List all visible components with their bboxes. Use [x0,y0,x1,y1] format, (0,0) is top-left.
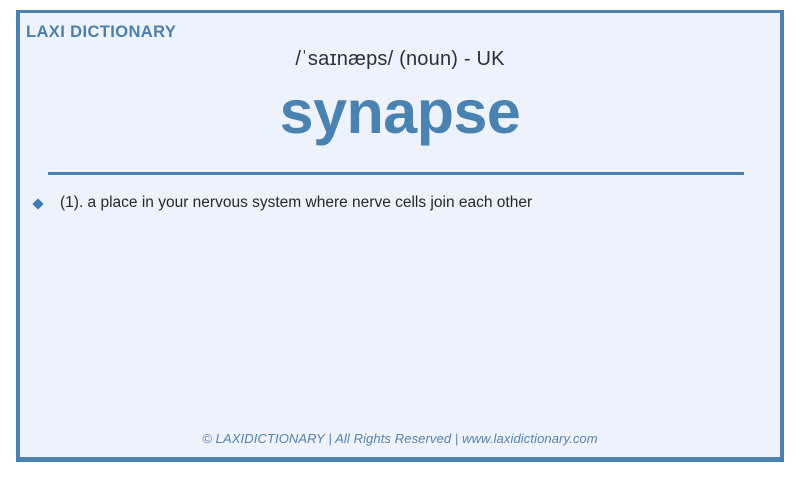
pronunciation-line: /ˈsaɪnæps/ (noun) - UK [20,47,780,72]
definition-text: (1). a place in your nervous system wher… [42,193,532,214]
footer-copyright: © LAXIDICTIONARY | All Rights Reserved |… [202,431,597,446]
brand-logo: LAXI DICTIONARY [26,23,176,42]
definition-list: (1). a place in your nervous system wher… [20,193,780,430]
card-footer: © LAXIDICTIONARY | All Rights Reserved |… [20,430,780,457]
dictionary-card: LAXI DICTIONARY /ˈsaɪnæps/ (noun) - UK s… [16,10,784,462]
headword: synapse [20,80,780,146]
page-root: LAXI DICTIONARY /ˈsaɪnæps/ (noun) - UK s… [0,0,800,480]
headword-block: /ˈsaɪnæps/ (noun) - UK synapse [20,47,780,146]
section-divider [48,172,744,175]
list-item: (1). a place in your nervous system wher… [34,193,780,214]
